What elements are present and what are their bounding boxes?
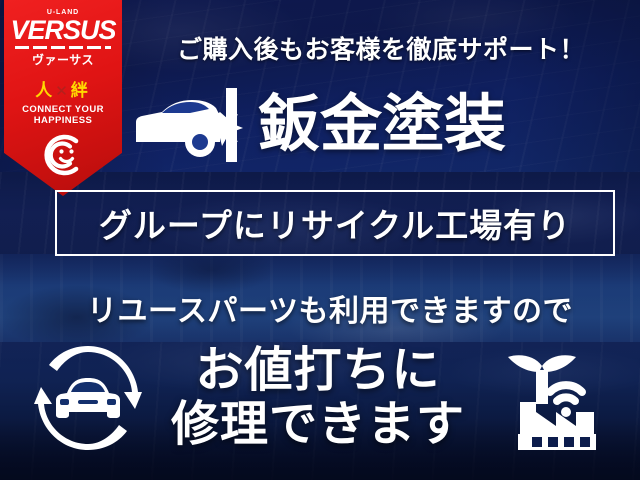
value-repair-message: お値打ちに 修理できます xyxy=(171,344,465,452)
car-collision-icon xyxy=(128,86,254,164)
recycle-factory-text: グループにリサイクル工場有り xyxy=(99,199,571,247)
badge-slogan-line1: CONNECT YOUR xyxy=(4,104,122,115)
badge-concept-right: 絆 xyxy=(71,81,91,100)
value-repair-line1: お値打ちに xyxy=(171,344,465,398)
car-recycle-icon xyxy=(34,345,142,451)
badge-brand-kana: ヴァーサス xyxy=(4,51,122,68)
bottom-row: お値打ちに 修理できます xyxy=(0,336,640,460)
badge-cross-mark-icon: ✕ xyxy=(55,83,71,100)
badge-concept-left: 人 xyxy=(35,81,55,100)
badge-slogan: CONNECT YOUR HAPPINESS xyxy=(4,104,122,126)
advertisement-banner: U-LAND VERSUS ヴァーサス 人✕絆 CONNECT YOUR HAP… xyxy=(0,0,640,480)
support-tagline: ご購入後もお客様を徹底サポート！ xyxy=(140,30,622,66)
headline-text: 鈑金塗装 xyxy=(258,94,506,156)
badge-concept-line: 人✕絆 xyxy=(4,76,122,101)
reuse-parts-text: リユースパーツも利用できますので xyxy=(40,286,620,330)
recycle-factory-box: グループにリサイクル工場有り xyxy=(55,190,615,256)
badge-brand-name: VERSUS xyxy=(4,17,122,44)
headline-row: 鈑金塗装 xyxy=(128,86,632,164)
eco-factory-icon xyxy=(494,342,606,454)
badge-slogan-line2: HAPPINESS xyxy=(4,115,122,126)
badge-dashed-rule xyxy=(15,46,111,49)
value-repair-line2: 修理できます xyxy=(171,398,465,452)
